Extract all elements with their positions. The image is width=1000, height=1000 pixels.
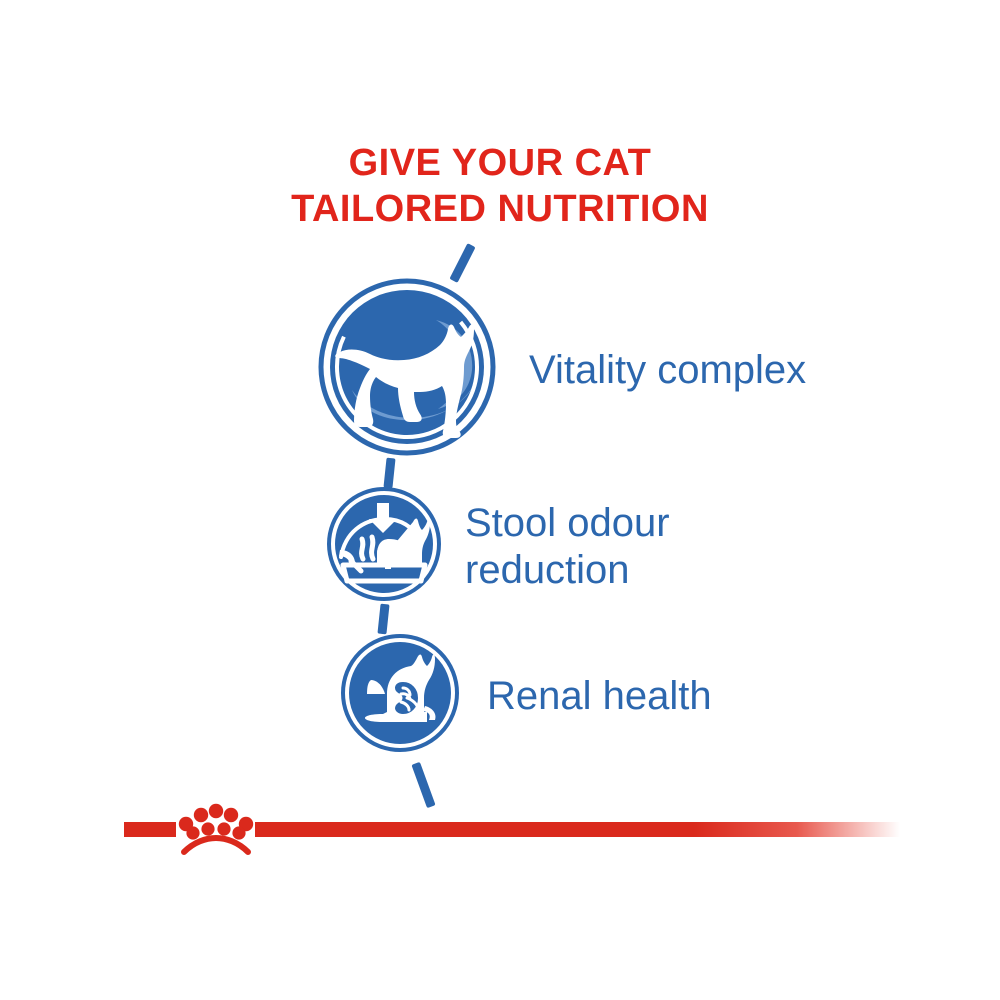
feature-label-vitality-complex: Vitality complex <box>529 347 806 393</box>
connector-dash-middle-1 <box>383 458 395 489</box>
cat-litter-box-odour-icon <box>327 487 441 606</box>
connector-dash-top <box>449 243 475 283</box>
page-title: GIVE YOUR CAT TAILORED NUTRITION <box>0 140 1000 232</box>
brand-rule-right <box>255 822 900 837</box>
feature-label-stool-odour-reduction: Stool odour reduction <box>465 500 670 594</box>
brand-rule-left <box>124 822 176 837</box>
feature-label-renal-health: Renal health <box>487 673 712 719</box>
cat-kidney-icon <box>341 634 459 757</box>
connector-dash-middle-2 <box>377 604 389 635</box>
feature-item-stool-odour-reduction: Stool odour reduction <box>327 487 670 606</box>
royal-canin-brand-bar <box>0 800 1000 870</box>
promo-panel: GIVE YOUR CAT TAILORED NUTRITION Vitalit… <box>0 0 1000 1000</box>
feature-item-renal-health: Renal health <box>341 634 712 757</box>
feature-item-vitality-complex: Vitality complex <box>318 278 806 461</box>
headline-line-2: TAILORED NUTRITION <box>0 186 1000 232</box>
cat-walking-icon <box>318 278 496 461</box>
headline-line-1: GIVE YOUR CAT <box>0 140 1000 186</box>
royal-canin-crown-icon <box>178 800 254 860</box>
